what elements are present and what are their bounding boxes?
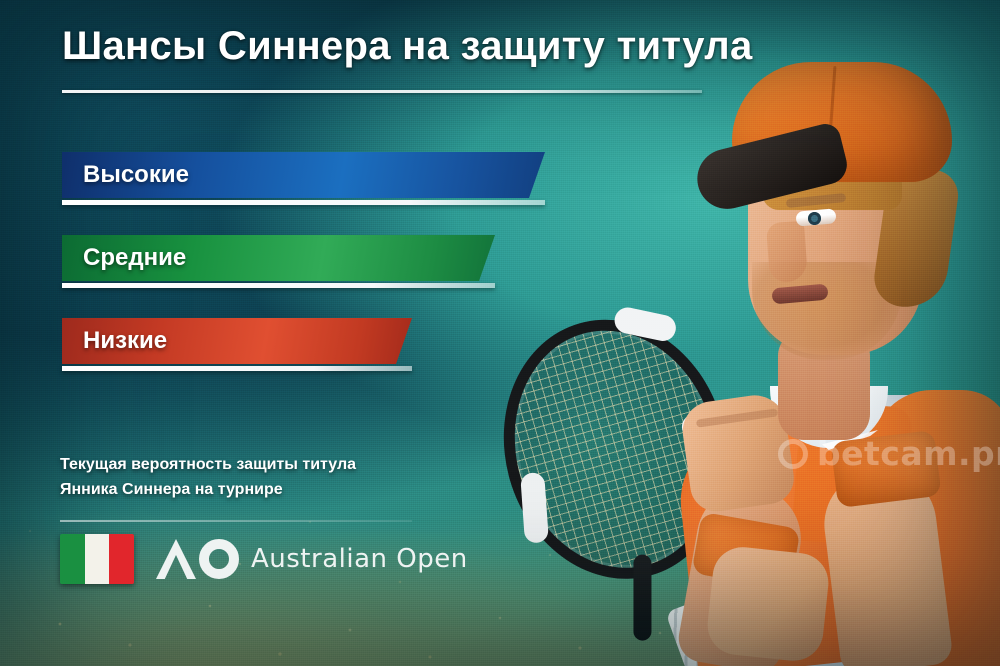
racket-throat-left <box>633 555 651 641</box>
bar-label-low: Низкие <box>62 327 167 355</box>
bar-high: Высокие <box>62 152 545 198</box>
ao-letter-o-icon <box>199 539 239 579</box>
infographic-poster: betcam.pro Шансы Синнера на защиту титул… <box>0 0 1000 666</box>
caption-divider <box>60 520 412 522</box>
bar-label-medium: Средние <box>62 244 186 272</box>
australian-open-logo: Australian Open <box>156 539 468 579</box>
caption-line-2: Янника Синнера на турнире <box>60 477 356 502</box>
bar-underline-medium <box>62 283 495 288</box>
bar-low: Низкие <box>62 318 412 364</box>
watermark: betcam.pro <box>778 434 1000 473</box>
flag-stripe-red <box>109 534 134 584</box>
bar-row-low: Низкие <box>62 318 545 371</box>
flag-stripe-green <box>60 534 85 584</box>
brand-row: Australian Open <box>60 534 468 584</box>
bar-label-high: Высокие <box>62 161 189 189</box>
player-photo <box>500 0 1000 666</box>
page-title: Шансы Синнера на защиту титула <box>62 24 753 69</box>
probability-bar-chart: Высокие Средние Низкие <box>62 152 545 401</box>
australian-open-label: Australian Open <box>251 544 468 574</box>
ao-monogram-icon <box>156 539 239 579</box>
player-nose <box>766 221 808 284</box>
bar-underline-high <box>62 200 545 205</box>
player-hand-lower <box>705 544 832 664</box>
watermark-text: betcam.pro <box>817 434 1000 473</box>
bar-row-medium: Средние <box>62 235 545 288</box>
ao-letter-a-icon <box>156 539 196 579</box>
bar-medium: Средние <box>62 235 495 281</box>
bar-underline-low <box>62 366 412 371</box>
bar-row-high: Высокие <box>62 152 545 205</box>
player-pupil <box>808 212 821 225</box>
caption-line-1: Текущая вероятность защиты титула <box>60 452 356 477</box>
title-divider <box>62 90 702 93</box>
italy-flag-icon <box>60 534 134 584</box>
watermark-logo-icon <box>778 439 808 469</box>
racket-trim-left <box>520 472 549 544</box>
caption: Текущая вероятность защиты титула Янника… <box>60 452 356 503</box>
flag-stripe-white <box>85 534 110 584</box>
